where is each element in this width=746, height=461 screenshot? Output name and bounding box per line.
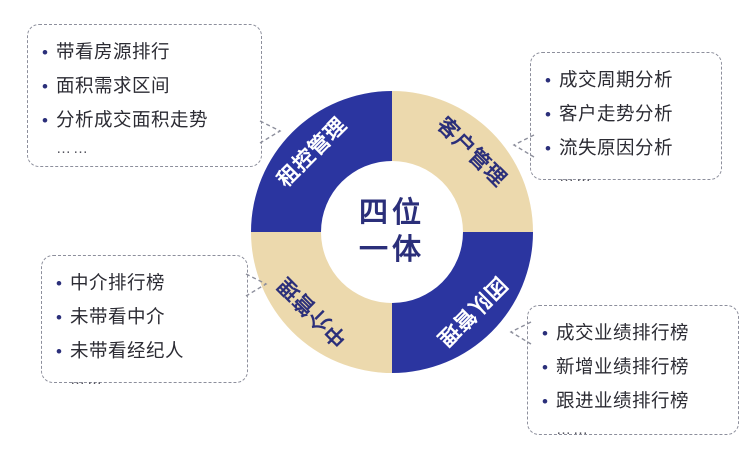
callout-list: •成交周期分析 •客户走势分析 •流失原因分析 …… — [545, 63, 707, 189]
list-item: •分析成交面积走势 — [42, 103, 247, 137]
callout-tail-icon — [260, 117, 286, 147]
list-item: •未带看经纪人 — [56, 334, 233, 368]
list-item: •成交业绩排行榜 — [542, 316, 724, 350]
list-item-ellipsis: …… — [545, 165, 707, 189]
donut-segment-agency-management[interactable] — [251, 232, 392, 373]
donut-segment-rent-control-management[interactable] — [251, 91, 392, 232]
list-item: •成交周期分析 — [545, 63, 707, 97]
bullet-icon: • — [545, 98, 559, 131]
bullet-icon: • — [42, 36, 56, 69]
callout-tail-icon — [507, 318, 533, 348]
bullet-icon: • — [56, 335, 70, 368]
list-item: •未带看中介 — [56, 300, 233, 334]
callout-list: •中介排行榜 •未带看中介 •未带看经纪人 …… — [56, 266, 233, 392]
bullet-icon: • — [542, 351, 556, 384]
callout-tail-icon — [246, 270, 272, 300]
list-item: •新增业绩排行榜 — [542, 350, 724, 384]
list-item: •跟进业绩排行榜 — [542, 384, 724, 418]
list-item: •带看房源排行 — [42, 35, 247, 69]
callout-team-management[interactable]: •成交业绩排行榜 •新增业绩排行榜 •跟进业绩排行榜 …… — [527, 305, 739, 435]
callout-tail-icon — [510, 131, 536, 161]
list-item-ellipsis: …… — [542, 418, 724, 442]
bullet-icon: • — [42, 104, 56, 137]
bullet-icon: • — [545, 64, 559, 97]
bullet-icon: • — [42, 70, 56, 103]
bullet-icon: • — [542, 317, 556, 350]
callout-customer-management[interactable]: •成交周期分析 •客户走势分析 •流失原因分析 …… — [530, 52, 722, 180]
bullet-icon: • — [542, 385, 556, 418]
bullet-icon: • — [56, 267, 70, 300]
callout-agency-management[interactable]: •中介排行榜 •未带看中介 •未带看经纪人 …… — [41, 255, 248, 383]
callout-list: •带看房源排行 •面积需求区间 •分析成交面积走势 …… — [42, 35, 247, 161]
bullet-icon: • — [56, 301, 70, 334]
donut-segment-team-management[interactable] — [392, 232, 533, 373]
callout-list: •成交业绩排行榜 •新增业绩排行榜 •跟进业绩排行榜 …… — [542, 316, 724, 442]
donut-segment-customer-management[interactable] — [392, 91, 533, 232]
diagram-canvas: 租控管理 客户管理 中介管理 团队管理 四位 一体 •带看房源排行 •面积需求区… — [0, 0, 746, 461]
list-item-ellipsis: …… — [42, 137, 247, 161]
list-item: •客户走势分析 — [545, 97, 707, 131]
list-item-ellipsis: …… — [56, 368, 233, 392]
list-item: •中介排行榜 — [56, 266, 233, 300]
list-item: •流失原因分析 — [545, 131, 707, 165]
list-item: •面积需求区间 — [42, 69, 247, 103]
callout-rent-control-management[interactable]: •带看房源排行 •面积需求区间 •分析成交面积走势 …… — [27, 24, 262, 167]
bullet-icon: • — [545, 132, 559, 165]
four-in-one-donut-chart: 租控管理 客户管理 中介管理 团队管理 四位 一体 — [250, 90, 534, 374]
